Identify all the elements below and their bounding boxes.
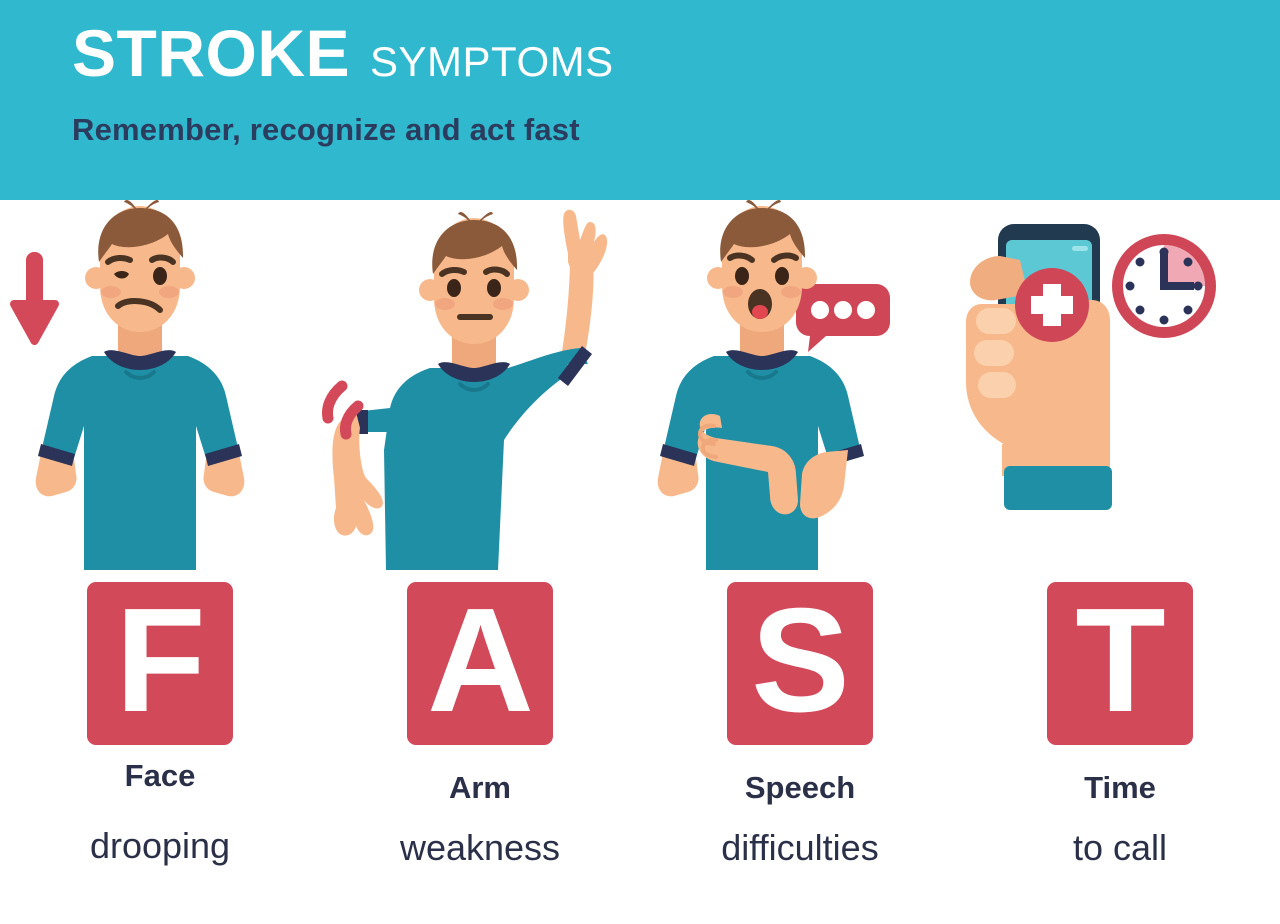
caption-title-arm: Arm <box>320 770 640 806</box>
column-time: T Time to call <box>960 200 1280 924</box>
illustration-time-to-call <box>960 200 1280 570</box>
illustration-speech-difficulties <box>640 200 960 570</box>
head-neutral <box>419 212 529 344</box>
illustration-face-drooping <box>0 200 320 570</box>
tile-letter: A <box>427 587 533 735</box>
torso-shirt <box>332 336 592 570</box>
caption-title-face: Face <box>0 758 320 794</box>
letter-tile-t: T <box>1047 582 1193 745</box>
header-band: STROKE SYMPTOMS Remember, recognize and … <box>0 0 1280 200</box>
tile-letter: F <box>115 587 204 735</box>
caption-subtitle-speech: difficulties <box>640 827 960 869</box>
tile-letter: T <box>1075 587 1164 735</box>
speech-bubble-icon <box>796 284 890 352</box>
tile-letter: S <box>751 587 849 735</box>
torso-shirt <box>36 324 245 570</box>
clock-icon <box>1112 234 1216 338</box>
stroke-symptoms-infographic: STROKE SYMPTOMS Remember, recognize and … <box>0 0 1280 924</box>
open-mouth-icon <box>748 289 772 319</box>
column-face: F Face drooping <box>0 200 320 924</box>
title-main: STROKE <box>72 20 350 86</box>
column-speech: S Speech difficulties <box>640 200 960 924</box>
caption-title-speech: Speech <box>640 770 960 806</box>
column-arm: A Arm weakness <box>320 200 640 924</box>
down-arrow-icon <box>14 252 55 341</box>
title-subword: SYMPTOMS <box>370 41 614 83</box>
medical-cross-icon <box>1015 268 1089 342</box>
letter-tile-s: S <box>727 582 873 745</box>
caption-subtitle-time: to call <box>960 827 1280 869</box>
caption-title-time: Time <box>960 770 1280 806</box>
illustration-arm-weakness <box>320 200 640 570</box>
head-face-drooping <box>85 200 195 332</box>
tagline: Remember, recognize and act fast <box>72 112 580 148</box>
fast-columns: F Face drooping <box>0 200 1280 924</box>
page-title: STROKE SYMPTOMS <box>72 20 614 86</box>
caption-subtitle-face: drooping <box>0 825 320 867</box>
torso-shirt <box>658 324 864 570</box>
caption-subtitle-arm: weakness <box>320 827 640 869</box>
letter-tile-a: A <box>407 582 553 745</box>
letter-tile-f: F <box>87 582 233 745</box>
